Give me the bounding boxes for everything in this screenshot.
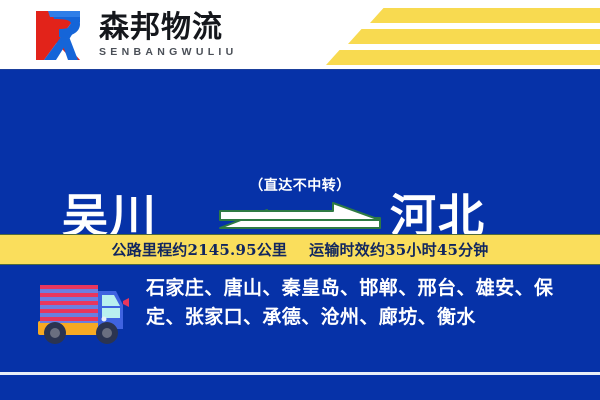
header-bar: 森邦物流 SENBANGWULIU [0,0,600,70]
origin-city: 吴川 [62,193,158,239]
bidirectional-arrow-icon [215,202,385,238]
destination-city: 河北 [390,193,486,239]
brand-name-en: SENBANGWULIU [99,47,238,58]
stripe-1 [370,8,600,23]
footer-bar [0,375,600,400]
stripe-3 [326,50,600,65]
decorative-stripes [270,0,600,70]
direct-service-tag: （直达不中转） [215,179,385,193]
distance-text: 公路里程约2145.95公里 [111,239,287,260]
brand-text: 森邦物流 SENBANGWULIU [99,12,238,58]
stripe-2 [348,29,600,44]
logistics-route-card: 森邦物流 SENBANGWULIU 吴川 （直达不中转） 【往返运输】 河北 公… [0,0,600,400]
brand-logo: 森邦物流 SENBANGWULIU [26,6,238,64]
duration-text: 运输时效约35小时45分钟 [309,239,488,260]
coverage-area: 石家庄、唐山、秦皇岛、邯郸、邢台、雄安、保定、张家口、承德、沧州、廊坊、衡水 [0,265,600,372]
header-divider [0,69,600,70]
delivery-truck-icon [24,279,129,351]
route-info-bar: 公路里程约2145.95公里 运输时效约35小时45分钟 [0,234,600,265]
covered-cities-text: 石家庄、唐山、秦皇岛、邯郸、邢台、雄安、保定、张家口、承德、沧州、廊坊、衡水 [146,274,582,333]
senbang-r-monogram-icon [26,8,88,63]
route-banner: 吴川 （直达不中转） 【往返运输】 河北 [0,71,600,234]
brand-name-cn: 森邦物流 [99,12,238,44]
